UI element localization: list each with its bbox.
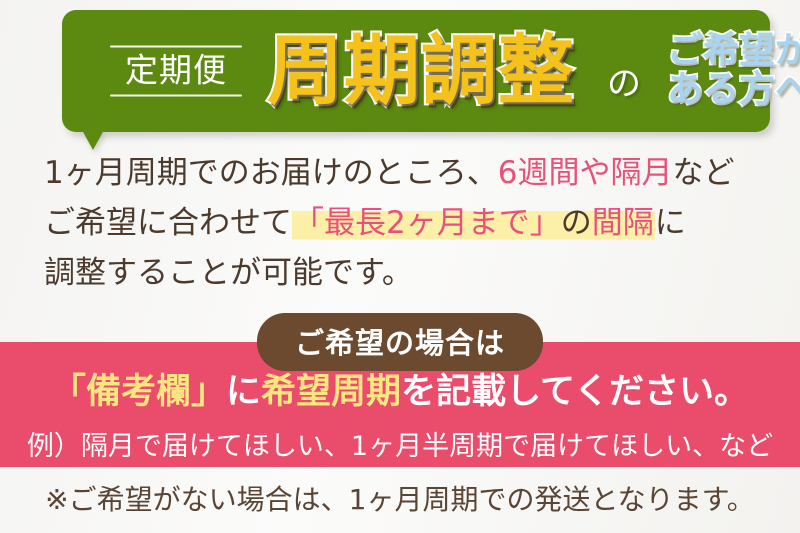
body-line-1-part-e: など [672,155,734,191]
body-line-1-part-a: 1ヶ月周期でのお届けのところ、 [44,155,498,191]
badge-rule-top [110,46,242,48]
body-line-2: ご希望に合わせて「最長2ヶ月まで」の間隔に [44,198,774,248]
pink-headline-part-d: を記載してください。 [401,372,749,412]
body-line-2-part-e: に [655,205,686,241]
body-line-2-highlight: 「最長2ヶ月まで」の間隔 [292,205,655,241]
pill-container: ご希望の場合は [0,313,800,371]
body-line-1-accent-six-weeks: 6週間 [498,155,580,191]
title-particle: の [607,67,641,101]
body-line-1-part-c: や [579,155,610,191]
body-line-1-accent-every-other-month: 隔月 [610,155,672,191]
body-line-1: 1ヶ月周期でのお届けのところ、6週間や隔月など [44,148,774,198]
subscription-badge: 定期便 [110,46,242,97]
badge-rule-bottom [110,94,242,96]
pink-example-text: 例）隔月で届けてほしい、1ヶ月半周期で届けてほしい、など [0,424,800,463]
pink-headline-accent-remarks-field: 「備考欄」 [51,372,226,412]
body-line-2-accent-max-two-months: 「最長2ヶ月まで」 [293,205,561,241]
request-case-pill: ご希望の場合は [257,313,543,371]
wish-caption-line-2: ある方へ [667,71,800,110]
footer-note: ※ご希望がない場合は、1ヶ月周期での発送となります。 [0,478,800,518]
body-paragraph: 1ヶ月周期でのお届けのところ、6週間や隔月など ご希望に合わせて「最長2ヶ月まで… [44,148,774,299]
body-line-2-part-a: ご希望に合わせて [44,205,292,241]
body-line-3: 調整することが可能です。 [44,248,774,298]
wish-caption: ご希望が ある方へ [667,32,800,110]
pink-headline-accent-desired-cycle: 希望周期 [261,372,401,412]
wish-caption-line-1: ご希望が [667,32,800,71]
main-title: 周期調整 [267,33,575,109]
bubble-tail [82,130,104,150]
promo-banner: 定期便 周期調整 の ご希望が ある方へ 1ヶ月周期でのお届けのところ、6週間や… [0,0,800,533]
body-line-2-accent-interval: 間隔 [592,205,654,241]
header-bubble: 定期便 周期調整 の ご希望が ある方へ [62,10,770,132]
body-line-2-part-c: の [561,205,592,241]
pink-headline-part-b: に [226,372,261,412]
badge-label: 定期便 [125,51,227,90]
